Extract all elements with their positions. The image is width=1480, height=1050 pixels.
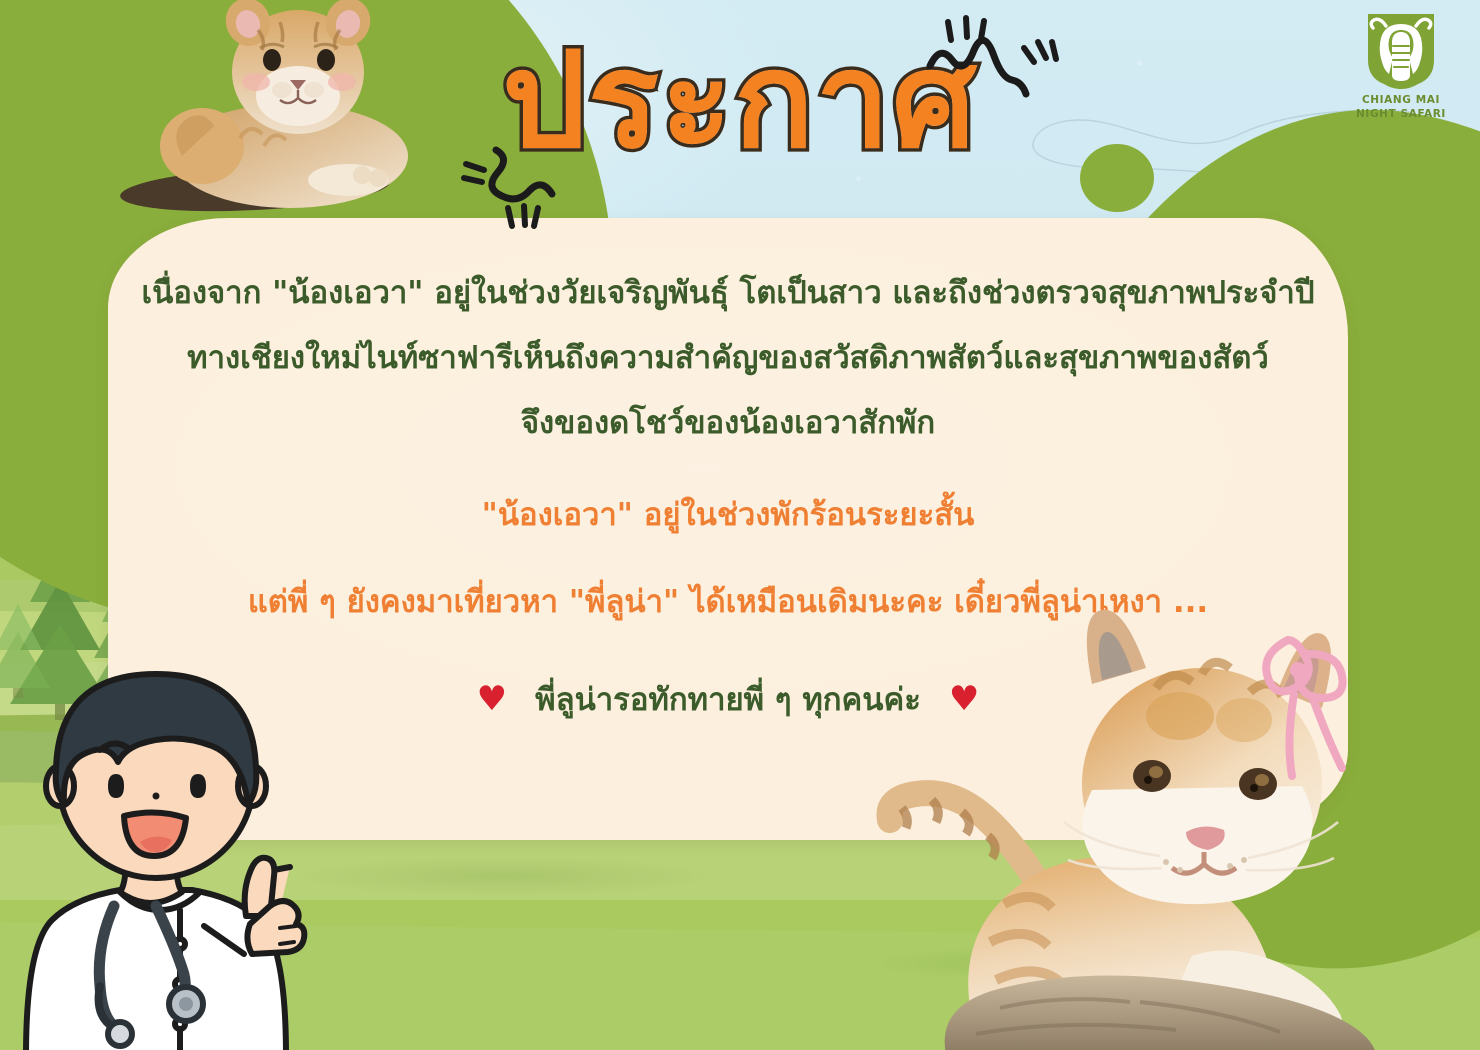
logo-line-1: CHIANG MAI: [1348, 94, 1454, 108]
body-line-3: จึงของดโชว์ของน้องเอวาสักพัก: [128, 402, 1328, 445]
logo-line-2: NIGHT SAFARI: [1348, 108, 1454, 122]
squiggle-icon: [452, 132, 592, 232]
veterinarian-illustration: [8, 610, 398, 1050]
tiger-photo: [880, 604, 1470, 1050]
poster-title-outline: ประกาศ: [0, 34, 1480, 169]
squiggle-icon: [918, 8, 1068, 104]
elephant-icon: [1364, 12, 1438, 90]
body-line-1: เนื่องจาก "น้องเอวา" อยู่ในช่วงวัยเจริญพ…: [128, 272, 1328, 315]
chiang-mai-night-safari-logo: CHIANG MAI NIGHT SAFARI: [1348, 12, 1454, 122]
highlight-line-1: "น้องเอวา" อยู่ในช่วงพักร้อนระยะสั้น: [128, 494, 1328, 537]
heart-icon: ♥: [477, 682, 507, 716]
announcement-poster: ประกาศ CHIANG MAI NIGHT SAFARI เนื่องจาก…: [0, 0, 1480, 1050]
closing-text: พี่ลูน่ารอทักทายพี่ ๆ ทุกคนค่ะ: [535, 674, 921, 724]
body-line-2: ทางเชียงใหม่ไนท์ซาฟารีเห็นถึงความสำคัญขอ…: [128, 337, 1328, 380]
